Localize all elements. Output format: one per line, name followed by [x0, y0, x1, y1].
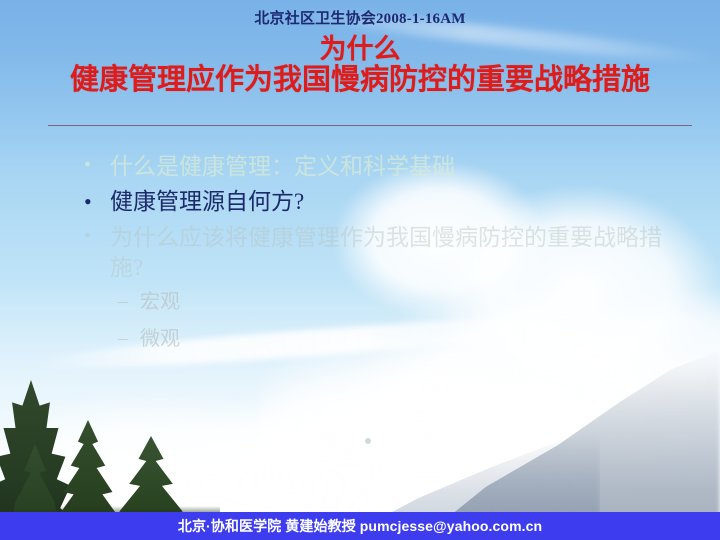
- title-line-2: 健康管理应作为我国慢病防控的重要战略措施: [0, 64, 720, 96]
- bullet-dot-icon: •: [84, 152, 110, 178]
- slide-title: 为什么 健康管理应作为我国慢病防控的重要战略措施: [0, 34, 720, 97]
- slide-footer-bar: 北京·协和医学院 黄建始教授 pumcjesse@yahoo.com.cn: [0, 512, 720, 540]
- sub-bullet-text: 宏观: [140, 289, 684, 315]
- title-divider-rule: [48, 125, 692, 126]
- stray-bullet-dot-icon: [365, 438, 371, 444]
- bullet-dash-icon: –: [118, 289, 140, 314]
- list-item: • 为什么应该将健康管理作为我国慢病防控的重要战略措施?: [84, 223, 684, 284]
- list-item: • 什么是健康管理：定义和科学基础: [84, 152, 684, 182]
- sub-bullet-text: 微观: [140, 326, 684, 352]
- list-item: • 健康管理源自何方?: [84, 187, 684, 217]
- bullet-dash-icon: –: [118, 326, 140, 351]
- bullet-dot-icon: •: [84, 187, 110, 216]
- title-line-1: 为什么: [0, 34, 720, 64]
- footer-attribution: 北京·协和医学院 黄建始教授 pumcjesse@yahoo.com.cn: [178, 516, 542, 536]
- bullet-dot-icon: •: [84, 223, 110, 249]
- sub-bullet-list: – 宏观 – 微观: [118, 289, 684, 352]
- bullet-text: 为什么应该将健康管理作为我国慢病防控的重要战略措施?: [110, 223, 684, 284]
- list-item: – 宏观: [118, 289, 684, 315]
- bullet-text: 什么是健康管理：定义和科学基础: [110, 152, 684, 182]
- list-item: – 微观: [118, 326, 684, 352]
- bullet-list: • 什么是健康管理：定义和科学基础 • 健康管理源自何方? • 为什么应该将健康…: [84, 152, 684, 362]
- bullet-text: 健康管理源自何方?: [110, 187, 684, 217]
- presentation-slide: 北京社区卫生协会2008-1-16AM 为什么 健康管理应作为我国慢病防控的重要…: [0, 0, 720, 540]
- slide-header-date: 北京社区卫生协会2008-1-16AM: [0, 7, 720, 28]
